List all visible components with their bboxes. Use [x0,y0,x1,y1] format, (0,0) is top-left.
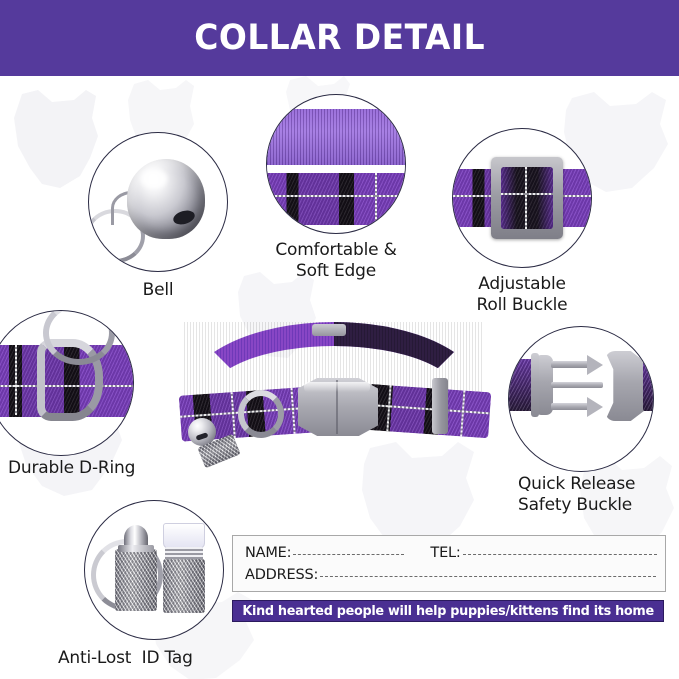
address-field-input[interactable] [320,576,656,577]
bell-circle-frame [88,132,228,272]
feature-anti-lost-id-tag: Anti-Lost ID Tag [84,500,254,675]
feature-caption-bell: Bell [88,280,228,301]
bell-highlight-icon [141,169,167,189]
infographic-stage: COLLAR DETAIL Bell [0,0,679,679]
d-ring-silver-thread-vertical [15,345,17,415]
bell-body-icon [127,159,205,239]
qr-female-housing-edge [531,353,539,417]
feature-bell: Bell [88,132,238,312]
qr-prong-top-arrow [587,355,603,375]
pet-info-card: NAME: TEL: ADDRESS: [232,535,666,592]
feature-quick-release-safety-buckle: Quick ReleaseSafety Buckle [508,326,679,506]
d-ring-icon [0,311,133,455]
d-ring-circle-frame [0,310,134,456]
webbing-gap [267,165,405,173]
qr-prong-center-bar [551,382,603,388]
collar-d-ring [238,390,284,438]
kind-hearted-banner: Kind hearted people will help puppies/ki… [232,600,664,622]
feature-caption-quick-release-safety-buckle: Quick ReleaseSafety Buckle [518,474,679,515]
id-tag-capsule-closed [115,549,157,611]
roll-buckle-circle-frame [452,128,592,268]
qr-prong-bottom-arrow [587,397,603,417]
webbing-soft-edge-band [267,109,405,165]
id-tag-capsule-collar [118,545,154,552]
collar-upper-keeper [312,324,346,336]
bell-icon [89,133,227,271]
roll-buckle-icon [453,129,591,267]
feature-caption-comfortable-soft-edge: Comfortable &Soft Edge [250,240,422,281]
address-field-label: ADDRESS: [245,567,318,583]
qr-right-webbing [643,359,654,411]
form-row-name-tel: NAME: TEL: [245,545,657,561]
webbing-silver-thread [267,195,405,197]
feature-adjustable-roll-buckle: AdjustableRoll Buckle [452,128,622,318]
webbing-silver-thread-vertical [375,173,377,223]
collar-buckle-highlight [304,382,370,392]
kind-hearted-banner-text: Kind hearted people will help puppies/ki… [242,604,653,619]
header-banner: COLLAR DETAIL [0,0,679,76]
id-tag-capsule-open [163,559,205,613]
id-tag-paper-slip [163,523,205,549]
name-field-input[interactable] [293,554,404,555]
quick-release-buckle-icon [509,327,653,471]
webbing-edge-icon [267,95,405,233]
collar-roll-keeper [432,378,448,434]
center-product-collar [180,312,490,482]
quick-release-circle-frame [508,326,654,472]
name-field-label: NAME: [245,545,291,561]
form-row-address: ADDRESS: [245,567,657,583]
feature-caption-adjustable-roll-buckle: AdjustableRoll Buckle [440,274,604,315]
soft-edge-circle-frame [266,94,406,234]
feature-caption-durable-d-ring: Durable D-Ring [8,458,188,479]
roll-buckle-window [501,167,553,229]
page-title: COLLAR DETAIL [194,21,485,56]
id-tag-icon [85,501,223,639]
webbing-plaid-band [267,173,405,225]
collar-lower-strap-right [368,384,491,438]
feature-comfortable-soft-edge: Comfortable &Soft Edge [266,94,426,284]
tel-field-label: TEL: [430,545,460,561]
feature-caption-anti-lost-id-tag: Anti-Lost ID Tag [58,648,258,669]
tel-field-input[interactable] [463,554,657,555]
id-tag-circle-frame [84,500,224,640]
feature-durable-d-ring: Durable D-Ring [0,310,178,485]
